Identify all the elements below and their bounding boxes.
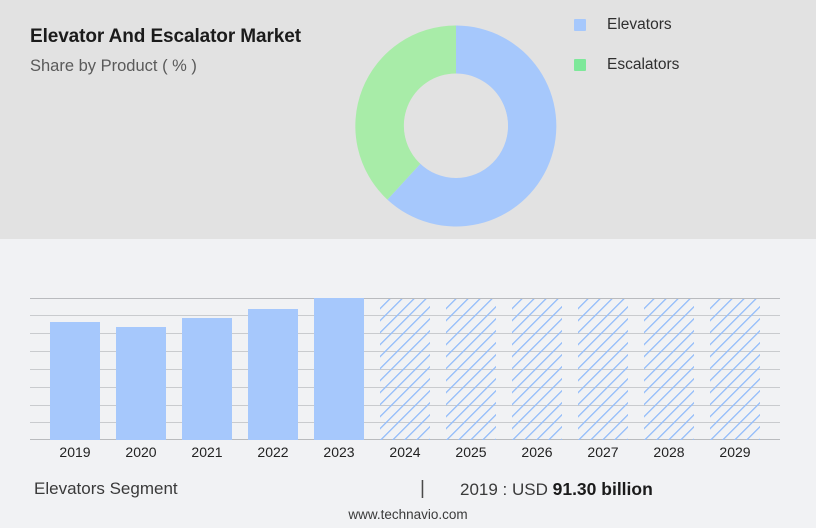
x-axis-label-2020: 2020 [111,444,171,460]
bar-2023[interactable] [314,298,364,440]
x-axis-label-2021: 2021 [177,444,237,460]
footer-stat-prefix: 2019 : USD [460,480,553,499]
donut-chart-svg [355,25,557,227]
bar-2021[interactable] [182,318,232,440]
bar-2027-forecast[interactable] [578,299,628,440]
footer-url: www.technavio.com [0,507,816,522]
square-swatch-icon-elevators [574,19,586,31]
x-axis-label-2029: 2029 [705,444,765,460]
x-axis-label-2025: 2025 [441,444,501,460]
footer-segment-label: Elevators Segment [34,479,178,499]
donut-hole [404,74,508,178]
bar-2019[interactable] [50,322,100,440]
bar-2029-forecast[interactable] [710,299,760,440]
x-axis-label-2024: 2024 [375,444,435,460]
x-axis-label-2027: 2027 [573,444,633,460]
x-axis-label-2026: 2026 [507,444,567,460]
bar-2028-forecast[interactable] [644,299,694,440]
footer-stat-value: 91.30 billion [553,479,653,499]
page-title: Elevator And Escalator Market [30,26,350,48]
legend-item-elevators[interactable]: Elevators [574,14,679,35]
x-axis-label-2028: 2028 [639,444,699,460]
x-axis-label-2023: 2023 [309,444,369,460]
bar-2020[interactable] [116,327,166,440]
bar-2022[interactable] [248,309,298,440]
donut-chart [355,25,557,227]
legend-item-escalators[interactable]: Escalators [574,54,679,75]
header-panel: Elevator And Escalator Market Share by P… [0,0,816,239]
bar-2024-forecast[interactable] [380,299,430,440]
legend: Elevators Escalators [574,14,679,94]
legend-label-elevators: Elevators [607,16,672,34]
bar-chart-plot-area [30,298,780,440]
page-subtitle: Share by Product ( % ) [30,57,350,76]
bar-chart-panel: 2019 2020 2021 2022 2023 2024 2025 2026 … [0,239,816,467]
footer-divider: | [420,478,425,500]
square-swatch-icon-escalators [574,59,586,71]
legend-label-escalators: Escalators [607,56,679,74]
x-axis-label-2019: 2019 [45,444,105,460]
footer-stat: 2019 : USD 91.30 billion [460,479,653,500]
bar-2026-forecast[interactable] [512,299,562,440]
x-axis-labels: 2019 2020 2021 2022 2023 2024 2025 2026 … [30,444,780,466]
bar-2025-forecast[interactable] [446,299,496,440]
footer-panel: Elevators Segment | 2019 : USD 91.30 bil… [0,467,816,528]
x-axis-label-2022: 2022 [243,444,303,460]
title-block: Elevator And Escalator Market Share by P… [30,26,350,76]
